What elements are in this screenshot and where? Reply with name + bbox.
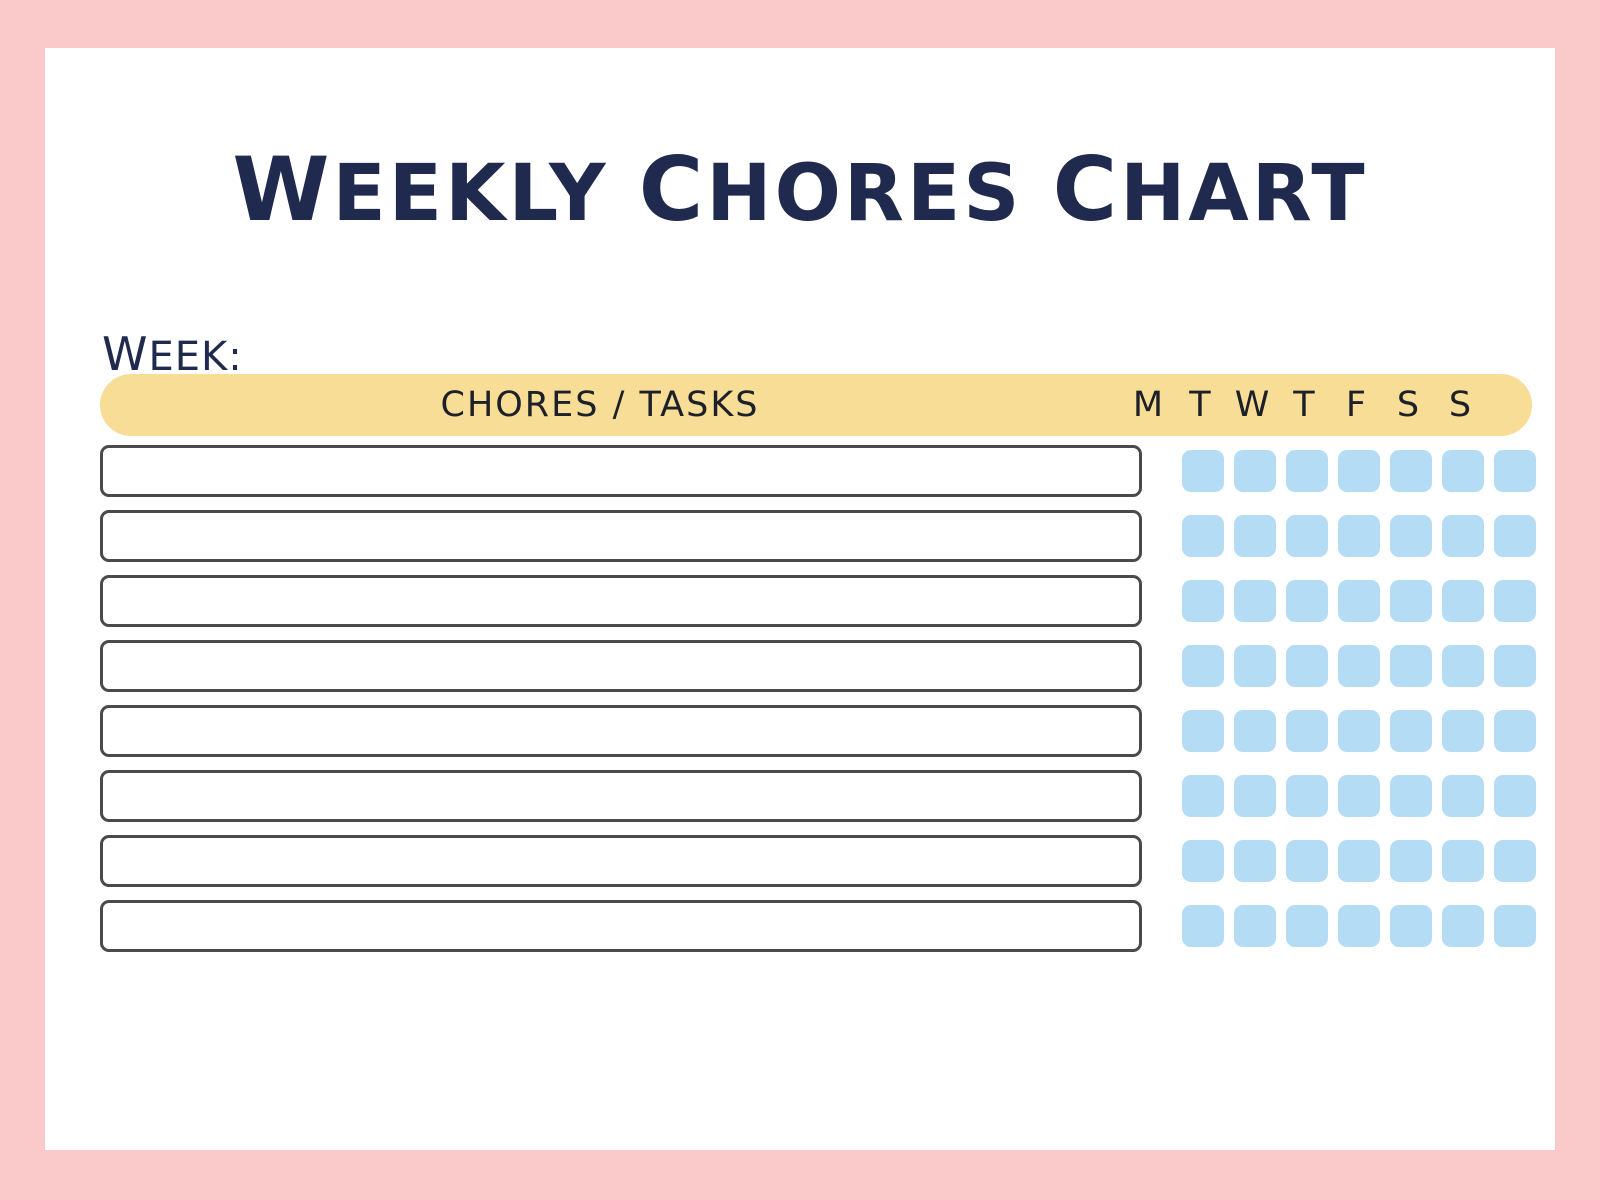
checkbox-saturday-row-8[interactable] <box>1442 905 1484 947</box>
page-title: WEEKLY CHORES CHART <box>45 146 1555 234</box>
checkbox-group-row-1 <box>1177 450 1541 492</box>
checkbox-cell <box>1333 515 1385 557</box>
checkbox-cell <box>1333 840 1385 882</box>
task-input-1[interactable] <box>100 445 1142 497</box>
checkbox-cell <box>1489 905 1541 947</box>
title-part-2: C <box>639 138 707 241</box>
title-part-3: HORES <box>706 149 1052 239</box>
task-input-3[interactable] <box>100 575 1142 627</box>
checkbox-cell <box>1229 580 1281 622</box>
checkbox-wednesday-row-5[interactable] <box>1286 710 1328 752</box>
table-row <box>100 445 1532 497</box>
checkbox-tuesday-row-2[interactable] <box>1234 515 1276 557</box>
checkbox-cell <box>1385 905 1437 947</box>
checkbox-group-row-5 <box>1177 710 1541 752</box>
checkbox-cell <box>1229 515 1281 557</box>
checkbox-cell <box>1333 775 1385 817</box>
task-input-2[interactable] <box>100 510 1142 562</box>
pink-page-frame: WEEKLY CHORES CHART WEEK: CHORES / TASKS… <box>0 0 1600 1200</box>
checkbox-cell <box>1385 710 1437 752</box>
day-header-monday: M <box>1122 374 1174 436</box>
checkbox-cell <box>1437 775 1489 817</box>
checkbox-cell <box>1281 710 1333 752</box>
checkbox-tuesday-row-3[interactable] <box>1234 580 1276 622</box>
checkbox-cell <box>1489 840 1541 882</box>
checkbox-saturday-row-1[interactable] <box>1442 450 1484 492</box>
checkbox-cell <box>1489 515 1541 557</box>
title-part-1: EEKLY <box>333 149 639 239</box>
table-row <box>100 770 1532 822</box>
checkbox-friday-row-5[interactable] <box>1390 710 1432 752</box>
table-row <box>100 835 1532 887</box>
checkbox-thursday-row-4[interactable] <box>1338 645 1380 687</box>
checkbox-cell <box>1177 840 1229 882</box>
checkbox-cell <box>1437 450 1489 492</box>
checkbox-cell <box>1489 775 1541 817</box>
day-header-tuesday: T <box>1174 374 1226 436</box>
title-part-4: C <box>1053 138 1121 241</box>
day-header-sunday: S <box>1434 374 1486 436</box>
checkbox-sunday-row-2[interactable] <box>1494 515 1536 557</box>
checkbox-group-row-8 <box>1177 905 1541 947</box>
checkbox-cell <box>1489 710 1541 752</box>
checkbox-cell <box>1385 580 1437 622</box>
checkbox-thursday-row-5[interactable] <box>1338 710 1380 752</box>
checkbox-cell <box>1281 775 1333 817</box>
table-row <box>100 510 1532 562</box>
checkbox-cell <box>1281 840 1333 882</box>
table-row <box>100 900 1532 952</box>
checkbox-tuesday-row-4[interactable] <box>1234 645 1276 687</box>
checkbox-monday-row-6[interactable] <box>1182 775 1224 817</box>
checkbox-cell <box>1177 580 1229 622</box>
checkbox-wednesday-row-2[interactable] <box>1286 515 1328 557</box>
chart-sheet: WEEKLY CHORES CHART WEEK: CHORES / TASKS… <box>45 48 1555 1150</box>
checkbox-cell <box>1437 580 1489 622</box>
checkbox-group-row-2 <box>1177 515 1541 557</box>
table-row <box>100 575 1532 627</box>
checkbox-cell <box>1281 905 1333 947</box>
week-label-part-0: W <box>102 327 148 381</box>
checkbox-saturday-row-2[interactable] <box>1442 515 1484 557</box>
checkbox-group-row-7 <box>1177 840 1541 882</box>
checkbox-monday-row-4[interactable] <box>1182 645 1224 687</box>
checkbox-cell <box>1281 645 1333 687</box>
checkbox-cell <box>1489 580 1541 622</box>
checkbox-monday-row-3[interactable] <box>1182 580 1224 622</box>
checkbox-sunday-row-3[interactable] <box>1494 580 1536 622</box>
checkbox-cell <box>1281 450 1333 492</box>
table-header-bar: CHORES / TASKS M T W T F S S <box>100 374 1532 436</box>
checkbox-wednesday-row-8[interactable] <box>1286 905 1328 947</box>
checkbox-cell <box>1333 645 1385 687</box>
checkbox-thursday-row-8[interactable] <box>1338 905 1380 947</box>
checkbox-thursday-row-1[interactable] <box>1338 450 1380 492</box>
checkbox-saturday-row-3[interactable] <box>1442 580 1484 622</box>
checkbox-monday-row-7[interactable] <box>1182 840 1224 882</box>
checkbox-tuesday-row-1[interactable] <box>1234 450 1276 492</box>
checkbox-thursday-row-7[interactable] <box>1338 840 1380 882</box>
checkbox-friday-row-7[interactable] <box>1390 840 1432 882</box>
checkbox-cell <box>1489 645 1541 687</box>
task-input-6[interactable] <box>100 770 1142 822</box>
task-input-4[interactable] <box>100 640 1142 692</box>
day-header-thursday: T <box>1278 374 1330 436</box>
checkbox-cell <box>1385 645 1437 687</box>
checkbox-friday-row-4[interactable] <box>1390 645 1432 687</box>
checkbox-cell <box>1333 580 1385 622</box>
checkbox-group-row-3 <box>1177 580 1541 622</box>
checkbox-saturday-row-6[interactable] <box>1442 775 1484 817</box>
checkbox-cell <box>1177 515 1229 557</box>
day-header-wednesday: W <box>1226 374 1278 436</box>
checkbox-cell <box>1437 710 1489 752</box>
checkbox-friday-row-2[interactable] <box>1390 515 1432 557</box>
checkbox-cell <box>1333 450 1385 492</box>
checkbox-cell <box>1437 645 1489 687</box>
checkbox-cell <box>1177 710 1229 752</box>
week-label: WEEK: <box>102 331 243 377</box>
checkbox-thursday-row-6[interactable] <box>1338 775 1380 817</box>
checkbox-tuesday-row-7[interactable] <box>1234 840 1276 882</box>
checkbox-monday-row-1[interactable] <box>1182 450 1224 492</box>
checkbox-sunday-row-7[interactable] <box>1494 840 1536 882</box>
checkbox-cell <box>1385 515 1437 557</box>
checkbox-thursday-row-3[interactable] <box>1338 580 1380 622</box>
table-row <box>100 705 1532 757</box>
checkbox-tuesday-row-8[interactable] <box>1234 905 1276 947</box>
checkbox-saturday-row-7[interactable] <box>1442 840 1484 882</box>
checkbox-friday-row-1[interactable] <box>1390 450 1432 492</box>
checkbox-cell <box>1229 710 1281 752</box>
checkbox-wednesday-row-1[interactable] <box>1286 450 1328 492</box>
checkbox-cell <box>1229 905 1281 947</box>
column-header-chores-tasks: CHORES / TASKS <box>100 374 1100 436</box>
checkbox-cell <box>1281 580 1333 622</box>
checkbox-tuesday-row-6[interactable] <box>1234 775 1276 817</box>
day-header-friday: F <box>1330 374 1382 436</box>
checkbox-cell <box>1333 905 1385 947</box>
checkbox-wednesday-row-6[interactable] <box>1286 775 1328 817</box>
checkbox-saturday-row-5[interactable] <box>1442 710 1484 752</box>
checkbox-sunday-row-1[interactable] <box>1494 450 1536 492</box>
checkbox-cell <box>1385 840 1437 882</box>
checkbox-friday-row-8[interactable] <box>1390 905 1432 947</box>
checkbox-cell <box>1177 905 1229 947</box>
title-part-0: W <box>232 138 332 241</box>
checkbox-thursday-row-2[interactable] <box>1338 515 1380 557</box>
checkbox-sunday-row-5[interactable] <box>1494 710 1536 752</box>
checkbox-cell <box>1229 840 1281 882</box>
checkbox-sunday-row-6[interactable] <box>1494 775 1536 817</box>
checkbox-cell <box>1177 645 1229 687</box>
day-header-saturday: S <box>1382 374 1434 436</box>
checkbox-cell <box>1437 515 1489 557</box>
checkbox-cell <box>1281 515 1333 557</box>
checkbox-cell <box>1385 775 1437 817</box>
checkbox-group-row-4 <box>1177 645 1541 687</box>
checkbox-monday-row-5[interactable] <box>1182 710 1224 752</box>
checkbox-monday-row-2[interactable] <box>1182 515 1224 557</box>
checkbox-cell <box>1229 450 1281 492</box>
column-headers-days: M T W T F S S <box>1122 374 1532 436</box>
checkbox-wednesday-row-7[interactable] <box>1286 840 1328 882</box>
checkbox-wednesday-row-4[interactable] <box>1286 645 1328 687</box>
checkbox-cell <box>1229 645 1281 687</box>
task-input-8[interactable] <box>100 900 1142 952</box>
checkbox-cell <box>1177 775 1229 817</box>
checkbox-group-row-6 <box>1177 775 1541 817</box>
table-row <box>100 640 1532 692</box>
title-part-5: HART <box>1120 149 1367 239</box>
checkbox-cell <box>1229 775 1281 817</box>
task-rows-container <box>100 445 1532 965</box>
checkbox-sunday-row-4[interactable] <box>1494 645 1536 687</box>
checkbox-cell <box>1177 450 1229 492</box>
checkbox-wednesday-row-3[interactable] <box>1286 580 1328 622</box>
checkbox-cell <box>1437 905 1489 947</box>
checkbox-friday-row-3[interactable] <box>1390 580 1432 622</box>
checkbox-sunday-row-8[interactable] <box>1494 905 1536 947</box>
task-input-5[interactable] <box>100 705 1142 757</box>
checkbox-tuesday-row-5[interactable] <box>1234 710 1276 752</box>
checkbox-saturday-row-4[interactable] <box>1442 645 1484 687</box>
checkbox-cell <box>1333 710 1385 752</box>
task-input-7[interactable] <box>100 835 1142 887</box>
checkbox-friday-row-6[interactable] <box>1390 775 1432 817</box>
checkbox-cell <box>1489 450 1541 492</box>
checkbox-monday-row-8[interactable] <box>1182 905 1224 947</box>
checkbox-cell <box>1385 450 1437 492</box>
checkbox-cell <box>1437 840 1489 882</box>
